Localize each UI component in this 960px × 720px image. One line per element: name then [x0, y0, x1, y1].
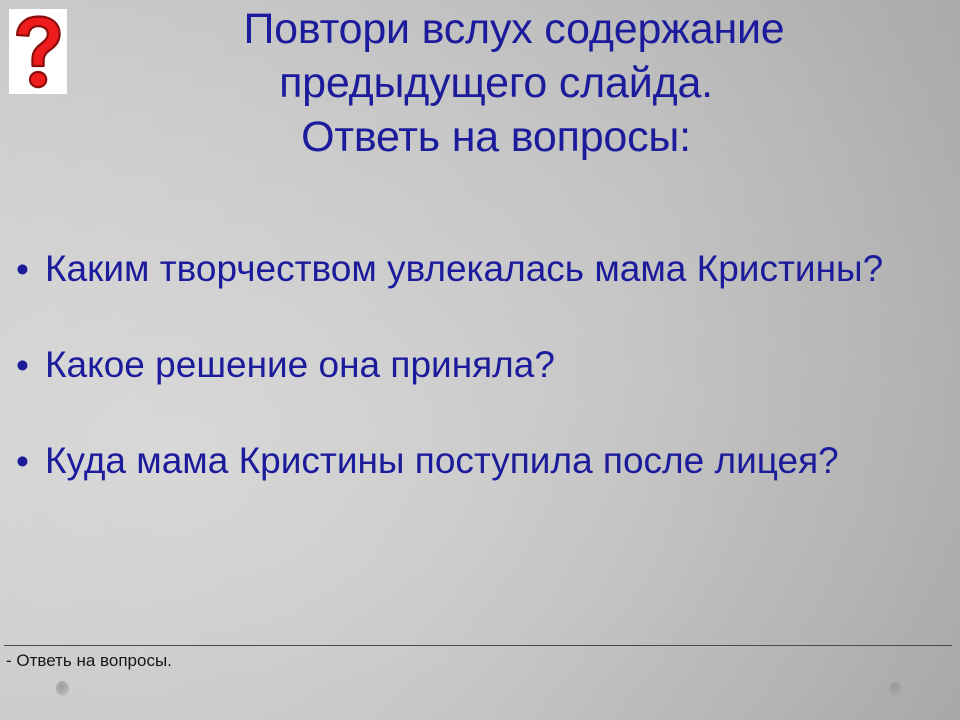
bullet-item-3: • Куда мама Кристины поступила после лиц… [0, 438, 956, 483]
bullet-text-2: Какое решение она приняла? [45, 342, 956, 387]
bullet-item-2: • Какое решение она приняла? [0, 342, 956, 387]
title-line-2: предыдущего слайда. [76, 56, 916, 110]
bullet-marker-icon: • [0, 247, 45, 292]
title-line-3: Ответь на вопросы: [76, 110, 916, 164]
slide-body[interactable]: • Каким творчеством увлекалась мама Крис… [0, 246, 956, 483]
question-mark-image[interactable] [9, 9, 67, 94]
bullet-marker-icon: • [0, 343, 45, 388]
bullet-spacer-1 [0, 291, 956, 342]
bullet-spacer-2 [0, 387, 956, 438]
decorative-dot-left [56, 681, 69, 696]
bullet-marker-icon: • [0, 439, 45, 484]
bullet-text-3: Куда мама Кристины поступила после лицея… [45, 438, 956, 483]
footer-note: - Ответь на вопросы. [6, 650, 172, 672]
bullet-text-1: Каким творчеством увлекалась мама Кристи… [45, 246, 956, 291]
bullet-item-1: • Каким творчеством увлекалась мама Крис… [0, 246, 956, 291]
presentation-slide: Повтори вслух содержание предыдущего сла… [0, 0, 960, 720]
footer-divider [4, 645, 952, 646]
question-mark-icon [9, 9, 67, 94]
slide-title[interactable]: Повтори вслух содержание предыдущего сла… [76, 2, 916, 164]
decorative-dot-right [889, 681, 902, 696]
title-line-1: Повтори вслух содержание [76, 2, 916, 56]
